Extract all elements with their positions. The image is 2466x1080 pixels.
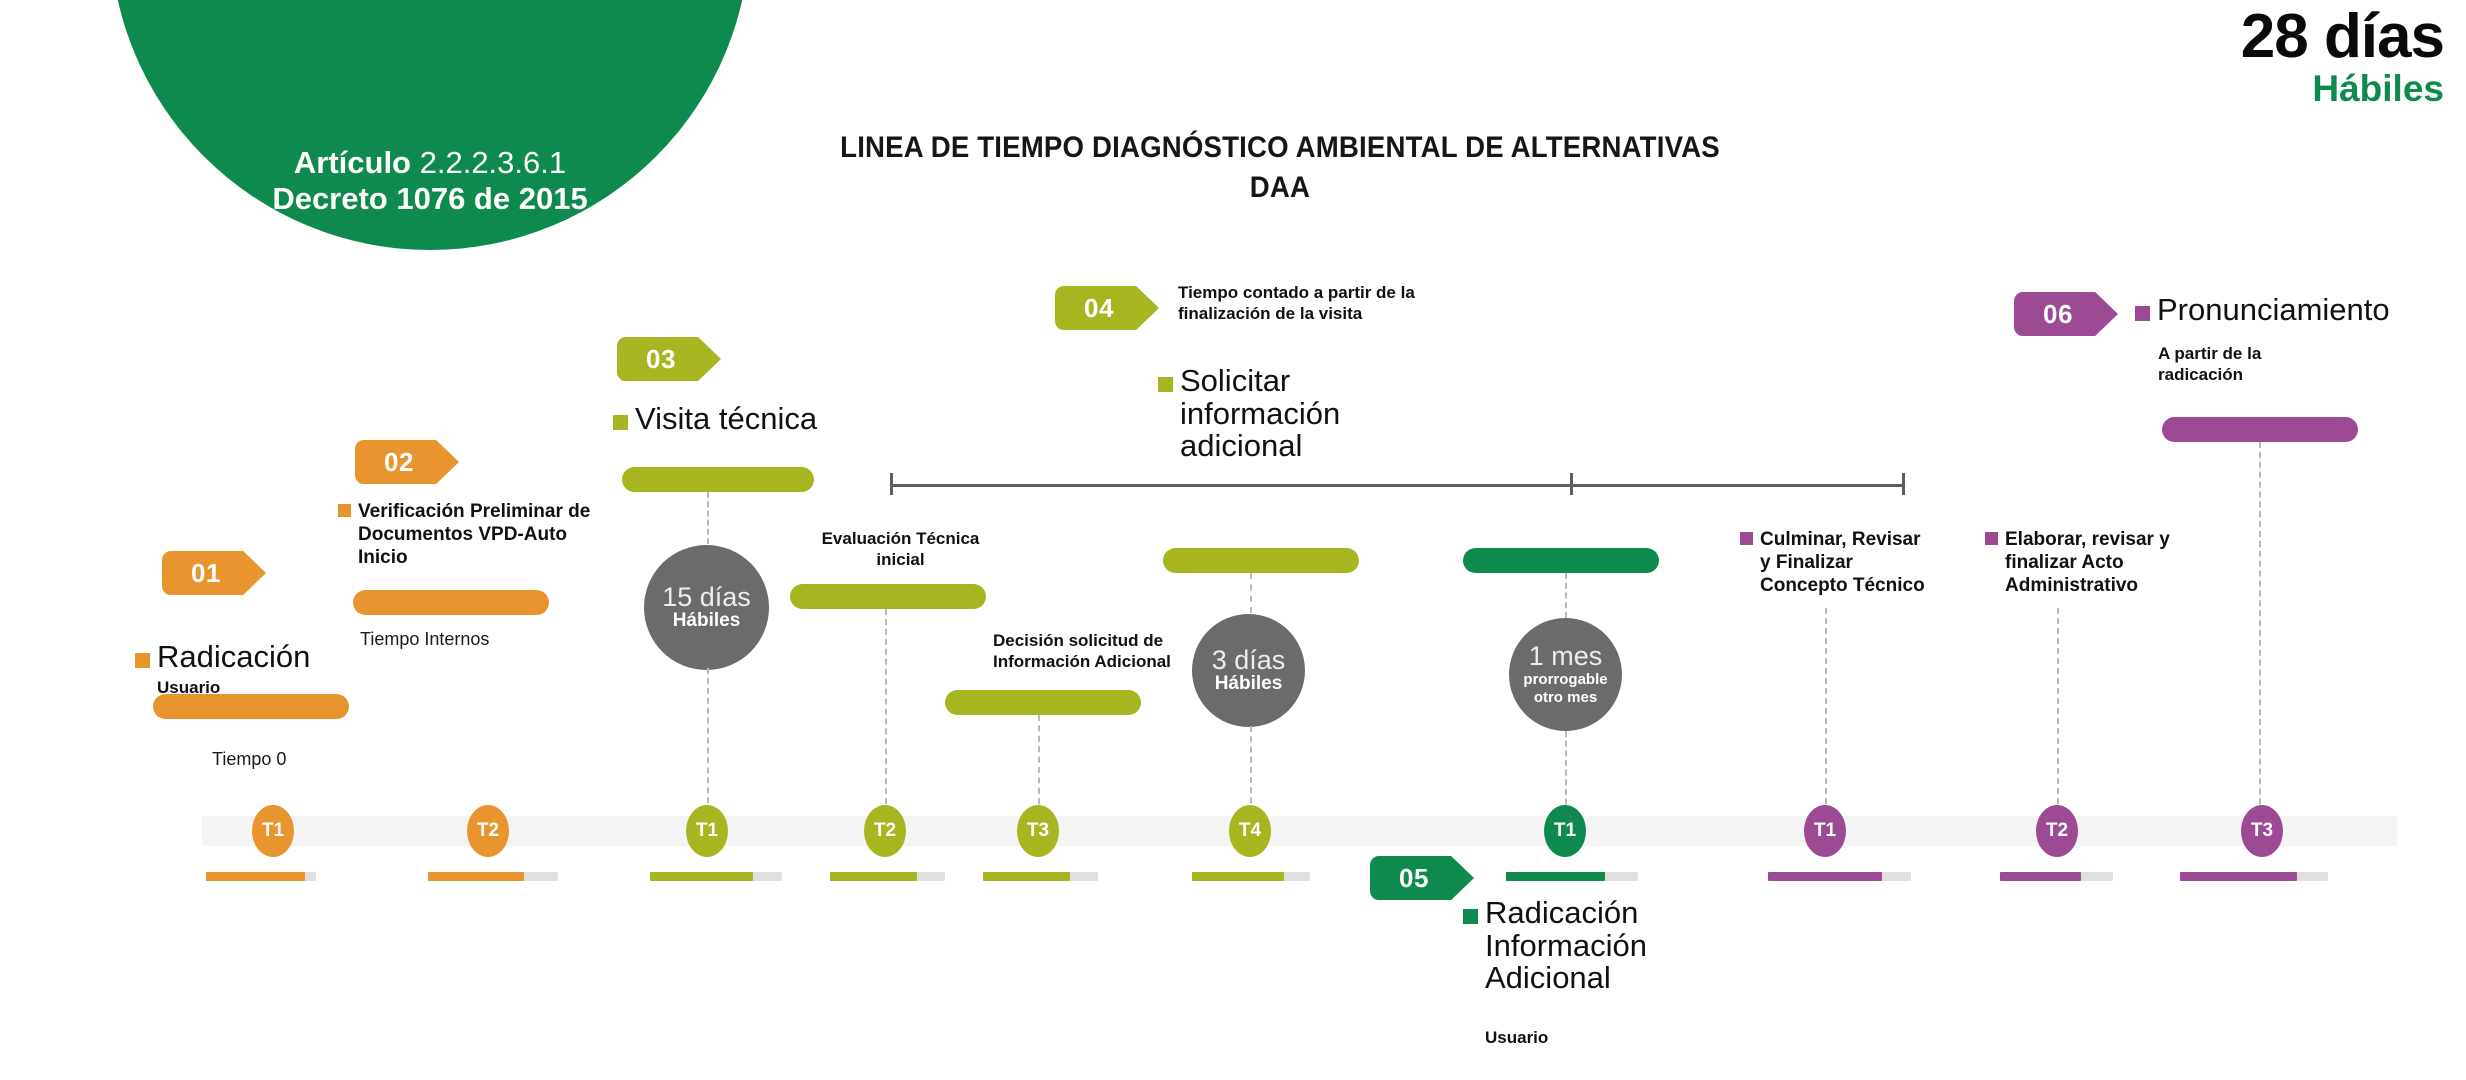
timeline-node-t1-orange[interactable]: T1	[252, 805, 294, 857]
timeline-node-label: T1	[1814, 820, 1836, 842]
duration-circle-15-dias: 15 días Hábiles	[644, 545, 769, 670]
step-05-headline-text: Radicación Información Adicional	[1485, 897, 1678, 995]
duration-circle-3-dias: 3 días Hábiles	[1192, 614, 1305, 727]
step-badge-06-number: 06	[2043, 299, 2073, 330]
timeline-node-t1-green[interactable]: T1	[1544, 805, 1586, 857]
duration-circle-1-mes-value: 1 mes	[1529, 642, 1603, 670]
step-badge-05[interactable]: 05	[1370, 856, 1474, 900]
step-05-subtitle: Usuario	[1485, 1028, 1548, 1049]
step-02-headline: Verificación Preliminar de Documentos VP…	[338, 500, 600, 570]
progress-bar-01	[206, 872, 316, 881]
timeline-node-label: T1	[262, 820, 284, 842]
step-badge-06[interactable]: 06	[2014, 292, 2118, 336]
duration-circle-1-mes: 1 mes prorrogable otro mes	[1509, 618, 1622, 731]
step-06-pill	[2162, 417, 2358, 442]
connector-elaborar	[2057, 608, 2059, 824]
total-duration-label: Hábiles	[2241, 70, 2444, 109]
legal-basis-badge: Artículo 2.2.2.3.6.1 Decreto 1076 de 201…	[110, 0, 750, 250]
connector-evaluacion-tecnica	[885, 609, 887, 824]
step-badge-02[interactable]: 02	[355, 440, 459, 484]
label-culminar-revisar: Culminar, Revisar y Finalizar Concepto T…	[1740, 528, 1930, 598]
timeline-node-label: T3	[1027, 820, 1049, 842]
progress-bar-02	[428, 872, 558, 881]
connector-culminar	[1825, 608, 1827, 824]
pill-evaluacion-tecnica	[790, 584, 986, 609]
step-badge-03-number: 03	[646, 344, 676, 375]
progress-bar-09	[2000, 872, 2113, 881]
progress-bar-04	[830, 872, 945, 881]
connector-step-04	[1250, 573, 1252, 613]
page-title-line-2: DAA	[746, 168, 1813, 208]
label-elaborar-revisar-text: Elaborar, revisar y finalizar Acto Admin…	[2005, 528, 2180, 598]
bullet-square-icon	[1158, 377, 1173, 392]
timeline-node-label: T2	[2046, 820, 2068, 842]
step-05-headline: Radicación Información Adicional	[1463, 897, 1678, 995]
bracket-bar	[890, 484, 1905, 487]
bullet-square-icon	[1985, 532, 1998, 545]
timespan-bracket	[890, 473, 1905, 495]
timeline-node-label: T3	[2251, 820, 2273, 842]
step-badge-04-number: 04	[1084, 293, 1114, 324]
step-badge-01-number: 01	[191, 558, 221, 589]
bracket-tick-middle	[1570, 473, 1573, 495]
step-02-pill	[353, 590, 549, 615]
label-decision-solicitud: Decisión solicitud de Información Adicio…	[993, 630, 1185, 673]
bullet-square-icon	[2135, 306, 2150, 321]
timeline-node-t2-orange[interactable]: T2	[467, 805, 509, 857]
step-01-headline: Radicación	[135, 641, 365, 674]
legal-basis-text: Artículo 2.2.2.3.6.1 Decreto 1076 de 201…	[272, 145, 587, 218]
step-badge-02-number: 02	[384, 447, 414, 478]
step-02-caption: Tiempo Internos	[360, 629, 489, 650]
step-badge-04[interactable]: 04	[1055, 286, 1159, 330]
bracket-tick-end	[1902, 473, 1905, 495]
step-01-pill	[153, 694, 349, 719]
infographic-canvas: Artículo 2.2.2.3.6.1 Decreto 1076 de 201…	[0, 0, 2466, 1080]
step-03-pill	[622, 467, 814, 492]
step-01-caption: Tiempo 0	[212, 749, 286, 770]
legal-basis-article-number: 2.2.2.3.6.1	[420, 145, 567, 180]
bullet-square-icon	[613, 415, 628, 430]
step-06-headline: Pronunciamiento	[2135, 294, 2465, 327]
step-badge-03[interactable]: 03	[617, 337, 721, 381]
label-evaluacion-tecnica: Evaluación Técnica inicial	[818, 528, 983, 571]
progress-bar-08	[1768, 872, 1911, 881]
step-badge-05-number: 05	[1399, 863, 1429, 894]
pill-step-04	[1163, 548, 1359, 573]
duration-circle-1-mes-note-2: otro mes	[1534, 689, 1597, 707]
bullet-square-icon	[1740, 532, 1753, 545]
timeline-node-t1-olive[interactable]: T1	[686, 805, 728, 857]
step-04-headline: Solicitar información adicional	[1158, 365, 1383, 463]
total-duration-callout: 28 días Hábiles	[2241, 6, 2444, 109]
progress-bar-03	[650, 872, 782, 881]
timeline-node-t2-olive[interactable]: T2	[864, 805, 906, 857]
timeline-node-t2-purple[interactable]: T2	[2036, 805, 2078, 857]
timeline-node-t1-purple[interactable]: T1	[1804, 805, 1846, 857]
timeline-node-label: T2	[874, 820, 896, 842]
connector-step-03	[707, 492, 709, 544]
step-04-headline-text: Solicitar información adicional	[1180, 365, 1383, 463]
timeline-node-t4-olive[interactable]: T4	[1229, 805, 1271, 857]
step-03-headline-text: Visita técnica	[635, 403, 817, 436]
bullet-square-icon	[1463, 909, 1478, 924]
bullet-square-icon	[338, 504, 351, 517]
duration-circle-15-dias-unit: Hábiles	[673, 611, 741, 632]
duration-circle-1-mes-note-1: prorrogable	[1523, 671, 1607, 689]
page-title-line-1: LINEA DE TIEMPO DIAGNÓSTICO AMBIENTAL DE…	[746, 128, 1813, 168]
pill-informacion-adicional	[1463, 548, 1659, 573]
duration-circle-15-dias-value: 15 días	[662, 583, 751, 611]
timeline-node-label: T2	[477, 820, 499, 842]
label-elaborar-revisar: Elaborar, revisar y finalizar Acto Admin…	[1985, 528, 2180, 598]
step-04-note: Tiempo contado a partir de la finalizaci…	[1178, 282, 1428, 325]
progress-bar-07	[1506, 872, 1638, 881]
timeline-node-label: T1	[696, 820, 718, 842]
bracket-tick-start	[890, 473, 893, 495]
total-duration-number: 28 días	[2241, 6, 2444, 68]
progress-bar-05	[983, 872, 1098, 881]
label-culminar-revisar-text: Culminar, Revisar y Finalizar Concepto T…	[1760, 528, 1930, 598]
timeline-node-t3-olive[interactable]: T3	[1017, 805, 1059, 857]
step-03-headline: Visita técnica	[613, 403, 903, 436]
timeline-node-t3-purple[interactable]: T3	[2241, 805, 2283, 857]
duration-circle-3-dias-value: 3 días	[1212, 646, 1286, 674]
page-title: LINEA DE TIEMPO DIAGNÓSTICO AMBIENTAL DE…	[746, 128, 1813, 208]
legal-basis-article-label: Artículo	[294, 145, 420, 180]
step-06-headline-text: Pronunciamiento	[2157, 294, 2390, 327]
bullet-square-icon	[135, 653, 150, 668]
timeline-node-label: T4	[1239, 820, 1261, 842]
step-02-headline-text: Verificación Preliminar de Documentos VP…	[358, 500, 600, 570]
progress-bar-10	[2180, 872, 2328, 881]
step-06-note: A partir de la radicación	[2158, 343, 2318, 386]
pill-decision-solicitud	[945, 690, 1141, 715]
timeline-node-label: T1	[1554, 820, 1576, 842]
connector-step-06	[2259, 442, 2261, 824]
connector-circle-15-to-timeline	[707, 668, 709, 823]
progress-bar-06	[1192, 872, 1310, 881]
connector-1-mes-top	[1565, 573, 1567, 618]
duration-circle-3-dias-unit: Hábiles	[1215, 674, 1283, 695]
legal-basis-line-2: Decreto 1076 de 2015	[272, 181, 587, 218]
step-badge-01[interactable]: 01	[162, 551, 266, 595]
step-01-headline-text: Radicación	[157, 641, 310, 674]
legal-basis-line-1: Artículo 2.2.2.3.6.1	[272, 145, 587, 182]
